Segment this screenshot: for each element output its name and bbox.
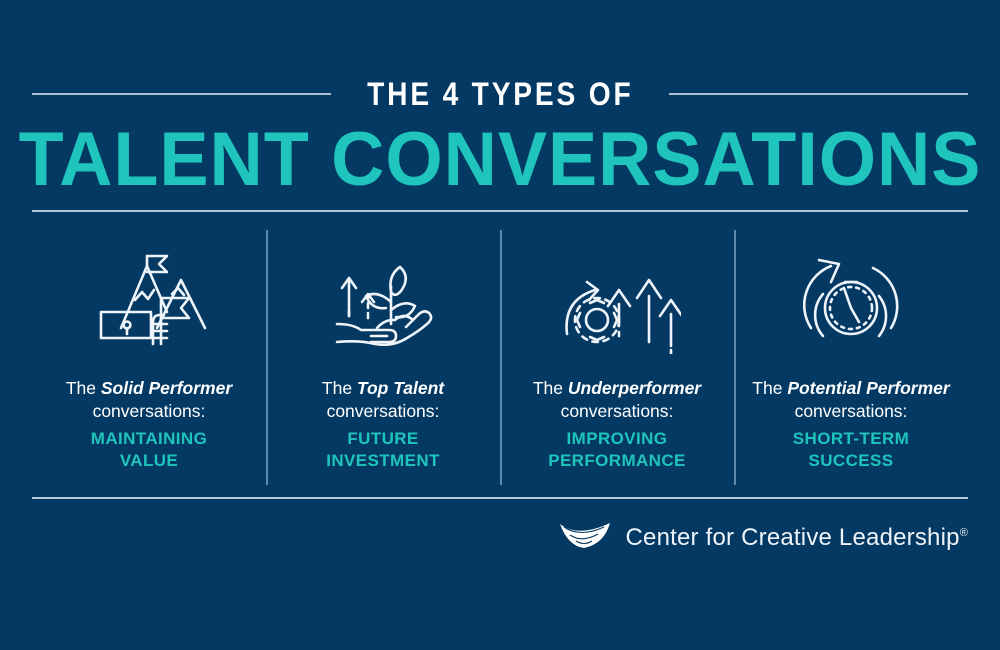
column-accent: MAINTAINING VALUE <box>91 428 207 472</box>
sprout-in-hand-icon <box>319 230 447 365</box>
gear-rising-arrows-icon <box>553 230 681 365</box>
column-accent: FUTURE INVESTMENT <box>326 428 440 472</box>
trademark-symbol: ® <box>960 527 968 539</box>
brand-label: Center for Creative Leadership <box>626 524 960 551</box>
column-caption: The Underperformer conversations: <box>533 377 701 423</box>
caption-subtitle: conversations: <box>93 401 206 421</box>
stopwatch-cycle-icon <box>787 230 915 365</box>
caption-lead: The <box>322 378 357 398</box>
column-caption: The Top Talent conversations: <box>322 377 444 423</box>
columns-container: The Solid Performer conversations: MAINT… <box>32 230 968 488</box>
accent-line-1: MAINTAINING <box>91 429 207 448</box>
column-underperformer: The Underperformer conversations: IMPROV… <box>500 230 734 488</box>
caption-subtitle: conversations: <box>327 401 440 421</box>
accent-line-2: INVESTMENT <box>326 451 440 470</box>
caption-lead: The <box>533 378 568 398</box>
accent-line-2: SUCCESS <box>808 451 893 470</box>
accent-line-1: IMPROVING <box>567 429 668 448</box>
eyebrow-text: THE 4 TYPES OF <box>367 78 633 110</box>
divider-bottom <box>32 497 968 499</box>
footer-branding: Center for Creative Leadership® <box>0 518 968 557</box>
column-accent: SHORT-TERM SUCCESS <box>793 428 909 472</box>
caption-type: Top Talent <box>357 378 444 398</box>
eyebrow-row: THE 4 TYPES OF <box>0 78 1000 110</box>
eyebrow-rule-right <box>669 93 968 95</box>
brand-name: Center for Creative Leadership® <box>626 524 968 552</box>
caption-lead: The <box>752 378 787 398</box>
accent-line-1: FUTURE <box>347 429 418 448</box>
column-accent: IMPROVING PERFORMANCE <box>548 428 686 472</box>
caption-subtitle: conversations: <box>561 401 674 421</box>
accent-line-2: VALUE <box>120 451 178 470</box>
column-solid-performer: The Solid Performer conversations: MAINT… <box>32 230 266 488</box>
caption-type: Underperformer <box>568 378 701 398</box>
page-title: TALENT CONVERSATIONS <box>15 122 985 198</box>
caption-type: Potential Performer <box>787 378 949 398</box>
caption-subtitle: conversations: <box>795 401 908 421</box>
column-top-talent: The Top Talent conversations: FUTURE INV… <box>266 230 500 488</box>
eyebrow-rule-left <box>32 93 331 95</box>
caption-lead: The <box>66 378 101 398</box>
divider-top <box>32 210 968 212</box>
column-potential-performer: The Potential Performer conversations: S… <box>734 230 968 488</box>
accent-line-2: PERFORMANCE <box>548 451 686 470</box>
mountains-flags-icon <box>85 230 213 365</box>
column-caption: The Solid Performer conversations: <box>66 377 232 423</box>
header: THE 4 TYPES OF TALENT CONVERSATIONS <box>0 78 1000 198</box>
accent-line-1: SHORT-TERM <box>793 429 909 448</box>
caption-type: Solid Performer <box>101 378 232 398</box>
ccl-hammock-logo <box>558 518 614 557</box>
infographic-poster: THE 4 TYPES OF TALENT CONVERSATIONS <box>0 0 1000 650</box>
column-caption: The Potential Performer conversations: <box>752 377 949 423</box>
